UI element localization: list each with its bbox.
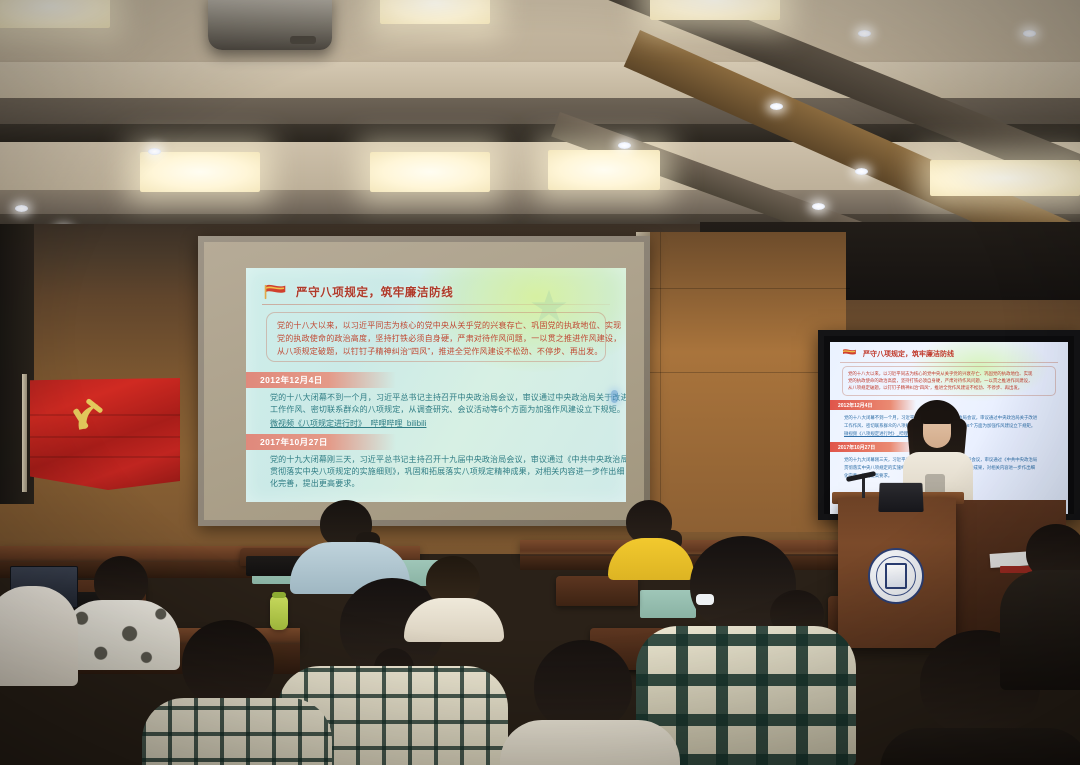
ceiling <box>0 0 1080 236</box>
downlight <box>855 168 868 175</box>
downlight <box>770 103 783 110</box>
quote-line: 从八项规定破题，以钉钉子精神纠治“四风”，推进全党作风建设不松劲、不停步、再出发… <box>277 345 595 358</box>
red-flag-icon <box>840 348 858 360</box>
ceiling-panel-light <box>930 160 1080 196</box>
cpc-party-flag <box>18 378 180 502</box>
ceiling-projector <box>208 0 332 50</box>
audience-member <box>1000 524 1080 694</box>
ceiling-panel-light <box>650 0 780 20</box>
slide-quote-box: 党的十八大以来，以习近平同志为核心的党中央从关乎党的兴衰存亡、巩固党的执政地位、… <box>266 312 606 362</box>
lcd-title-rule <box>840 362 1058 363</box>
wall-seam <box>650 288 850 289</box>
person-shoulders <box>880 728 1080 765</box>
podium-laptop <box>878 483 923 512</box>
presenter-hair <box>921 410 953 424</box>
video-link[interactable]: 微视频《八项规定进行时》_哔哩哔哩_bilibili <box>270 418 426 430</box>
ceiling-band <box>0 124 1080 142</box>
flag-cloth <box>30 378 180 490</box>
person-head <box>534 640 632 732</box>
lcd-slide-title: 严守八项规定，筑牢廉洁防线 <box>863 349 954 359</box>
person-shoulders <box>142 698 332 765</box>
downlight <box>148 148 161 155</box>
body-line: 工作作风、密切联系群众的八项规定，从调查研究、会议活动等6个方面为加强作风建设立… <box>270 404 625 416</box>
quote-line: 党的执政使命的政治高度，坚持打铁必须自身硬，严肃对待作风问题，一以贯之推进作风建… <box>277 332 595 345</box>
body-line: 贯彻落实中央八项规定的实施细则》，巩固和拓展落实八项规定精神成果，对相关内容进一… <box>270 466 625 478</box>
ceiling-panel-light <box>370 152 490 192</box>
projection-screen: 严守八项规定，筑牢廉洁防线 党的十八大以来，以习近平同志为核心的党中央从关乎党的… <box>198 236 650 526</box>
microphone-stem <box>862 476 865 498</box>
downlight <box>1023 30 1036 37</box>
slide-title-rule <box>262 304 610 305</box>
lcd-quote-line: 党的执政使命的政治高度，坚持打铁必须自身硬，严肃对待作风问题，一以贯之推进作风建… <box>848 377 1050 384</box>
body-line: 化完善，提出更高要求。 <box>270 478 360 490</box>
date-badge: 2017年10月27日 <box>246 434 396 450</box>
chair <box>556 576 638 606</box>
university-seal-icon <box>868 548 924 604</box>
ceiling-panel-light <box>0 0 110 28</box>
quote-line: 党的十八大以来，以习近平同志为核心的党中央从关乎党的兴衰存亡、巩固党的执政地位、… <box>277 319 595 332</box>
ceiling-panel-light <box>380 0 490 24</box>
date-badge: 2012年12月4日 <box>246 372 396 388</box>
lcd-quote-line: 党的十八大以来，以习近平同志为核心的党中央从关乎党的兴衰存亡、巩固党的执政地位、… <box>848 370 1050 377</box>
seal-inner-ring <box>876 556 916 596</box>
body-line: 党的十八大闭幕不到一个月，习近平总书记主持召开中央政治局会议，审议通过中央政治局… <box>270 392 626 404</box>
scroll-indicator[interactable] <box>611 390 618 403</box>
flag-pole <box>22 374 27 492</box>
seal-mark <box>885 563 907 589</box>
lcd-quote-line: 从八项规定破题，以钉钉子精神纠治“四风”，推进全党作风建设不松劲、不停步、再出发… <box>848 384 1050 391</box>
wall-panel-line <box>660 232 661 532</box>
person-shoulders <box>0 586 78 686</box>
downlight <box>858 30 871 37</box>
wood-wall-panel <box>636 232 846 532</box>
projector-lens <box>290 36 316 44</box>
audience-member <box>142 620 332 765</box>
screenshot-scene: 严守八项规定，筑牢廉洁防线 党的十八大以来，以习近平同志为核心的党中央从关乎党的… <box>0 0 1080 765</box>
lcd-slide-header: 严守八项规定，筑牢廉洁防线 <box>840 348 954 360</box>
screen-surface: 严守八项规定，筑牢廉洁防线 党的十八大以来，以习近平同志为核心的党中央从关乎党的… <box>204 242 644 520</box>
body-line: 党的十九大闭幕刚三天，习近平总书记主持召开十九届中央政治局会议，审议通过《中共中… <box>270 454 626 466</box>
downlight <box>15 205 28 212</box>
face-mask <box>696 594 714 605</box>
audience-member <box>404 556 504 626</box>
ceiling-band <box>0 0 1080 62</box>
presentation-slide: 严守八项规定，筑牢廉洁防线 党的十八大以来，以习近平同志为核心的党中央从关乎党的… <box>246 268 626 502</box>
person-head <box>182 620 274 706</box>
slide-header: 严守八项规定，筑牢廉洁防线 <box>262 280 610 304</box>
ceiling-panel-light <box>140 152 260 192</box>
audience-member <box>0 570 90 690</box>
hammer-and-sickle-icon <box>68 396 114 440</box>
downlight <box>618 142 631 149</box>
ceiling-panel-light <box>548 150 660 190</box>
lcd-quote-box: 党的十八大以来，以习近平同志为核心的党中央从关乎党的兴衰存亡、巩固党的执政地位、… <box>842 366 1056 396</box>
person-shoulders <box>404 598 504 642</box>
audience-member <box>500 640 680 765</box>
slide-title: 严守八项规定，筑牢廉洁防线 <box>296 284 453 300</box>
red-flag-icon <box>262 283 288 301</box>
audience-member <box>290 500 410 580</box>
person-shoulders <box>500 720 680 765</box>
person-shoulders <box>1000 570 1080 690</box>
downlight <box>812 203 825 210</box>
